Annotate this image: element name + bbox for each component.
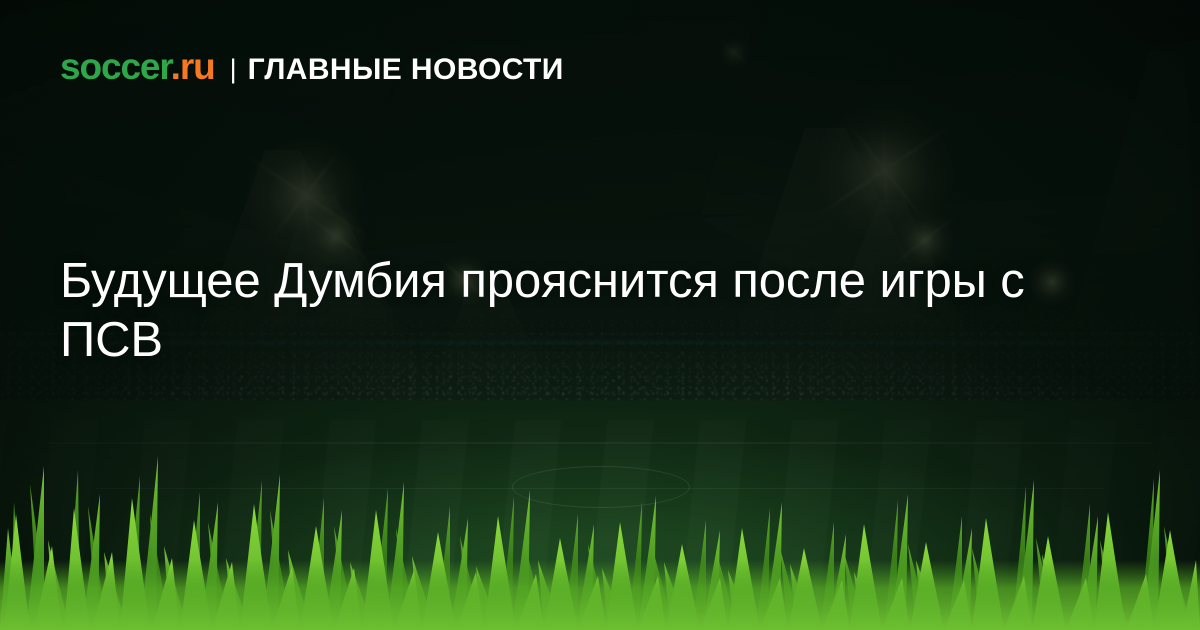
site-logo[interactable]: soccer.ru [60, 48, 215, 85]
brand-separator: | [230, 56, 237, 83]
site-logo-name: soccer [60, 46, 171, 87]
news-share-card: soccer.ru | ГЛАВНЫЕ НОВОСТИ Будущее Думб… [0, 0, 1200, 630]
brand-bar: soccer.ru | ГЛАВНЫЕ НОВОСТИ [60, 48, 564, 85]
site-logo-tld: .ru [171, 46, 215, 87]
article-headline: Будущее Думбия прояснится после игры с П… [60, 252, 1100, 371]
card-content: soccer.ru | ГЛАВНЫЕ НОВОСТИ Будущее Думб… [0, 0, 1200, 630]
section-title: ГЛАВНЫЕ НОВОСТИ [248, 55, 564, 85]
